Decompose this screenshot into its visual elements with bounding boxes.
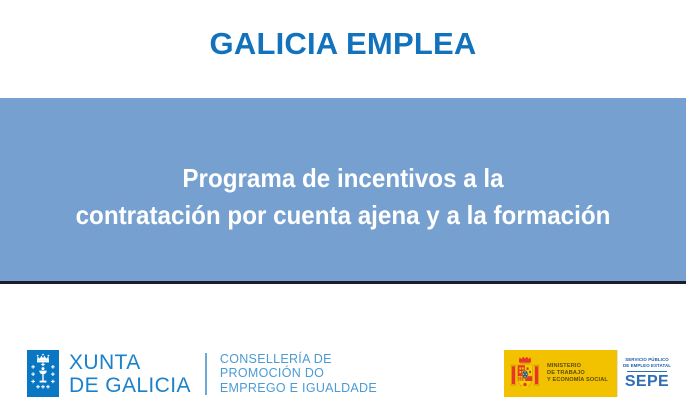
program-banner-text: Programa de incentivos a la contratación… <box>24 98 662 234</box>
conselleria-line-2: PROMOCIÓN DO <box>220 366 377 381</box>
sepe-wordmark: SEPE <box>625 373 669 390</box>
xunta-wordmark-line-2: DE GALICIA <box>69 374 191 397</box>
xunta-wordmark-line-1: XUNTA <box>69 351 191 374</box>
government-logo-lockup: MINISTERIO DE TRABAJO Y ECONOMÍA SOCIAL … <box>504 350 676 397</box>
spain-coat-of-arms-icon <box>508 354 542 394</box>
ministerio-line-2: DE TRABAJO <box>547 370 608 377</box>
xunta-de-galicia-logo: XUNTA DE GALICIA CONSELLERÍA DE PROMOCIÓ… <box>27 350 377 397</box>
ministerio-wordmark: MINISTERIO DE TRABAJO Y ECONOMÍA SOCIAL <box>547 363 608 385</box>
conselleria-wordmark: CONSELLERÍA DE PROMOCIÓN DO EMPREGO E IG… <box>220 352 377 396</box>
conselleria-line-3: EMPREGO E IGUALDADE <box>220 381 377 396</box>
sepe-logo: SERVICIO PÚBLICO DE EMPLEO ESTATAL SEPE <box>617 350 676 397</box>
xunta-wordmark: XUNTA DE GALICIA <box>69 351 191 397</box>
program-banner-line-2: contratación por cuenta ajena y a la for… <box>24 197 662 234</box>
galicia-coat-of-arms-icon <box>27 350 59 397</box>
conselleria-line-1: CONSELLERÍA DE <box>220 352 377 367</box>
ministerio-line-3: Y ECONOMÍA SOCIAL <box>547 377 608 384</box>
ministerio-de-trabajo-logo: MINISTERIO DE TRABAJO Y ECONOMÍA SOCIAL <box>504 350 617 397</box>
logo-divider <box>205 353 207 395</box>
page-title: GALICIA EMPLEA <box>0 25 686 63</box>
program-banner: Programa de incentivos a la contratación… <box>0 98 686 284</box>
ministerio-line-1: MINISTERIO <box>547 363 608 370</box>
sepe-tagline-line-2: DE EMPLEO ESTATAL <box>623 363 671 369</box>
sepe-divider-rule <box>627 371 667 372</box>
program-banner-line-1: Programa de incentivos a la <box>24 98 662 197</box>
